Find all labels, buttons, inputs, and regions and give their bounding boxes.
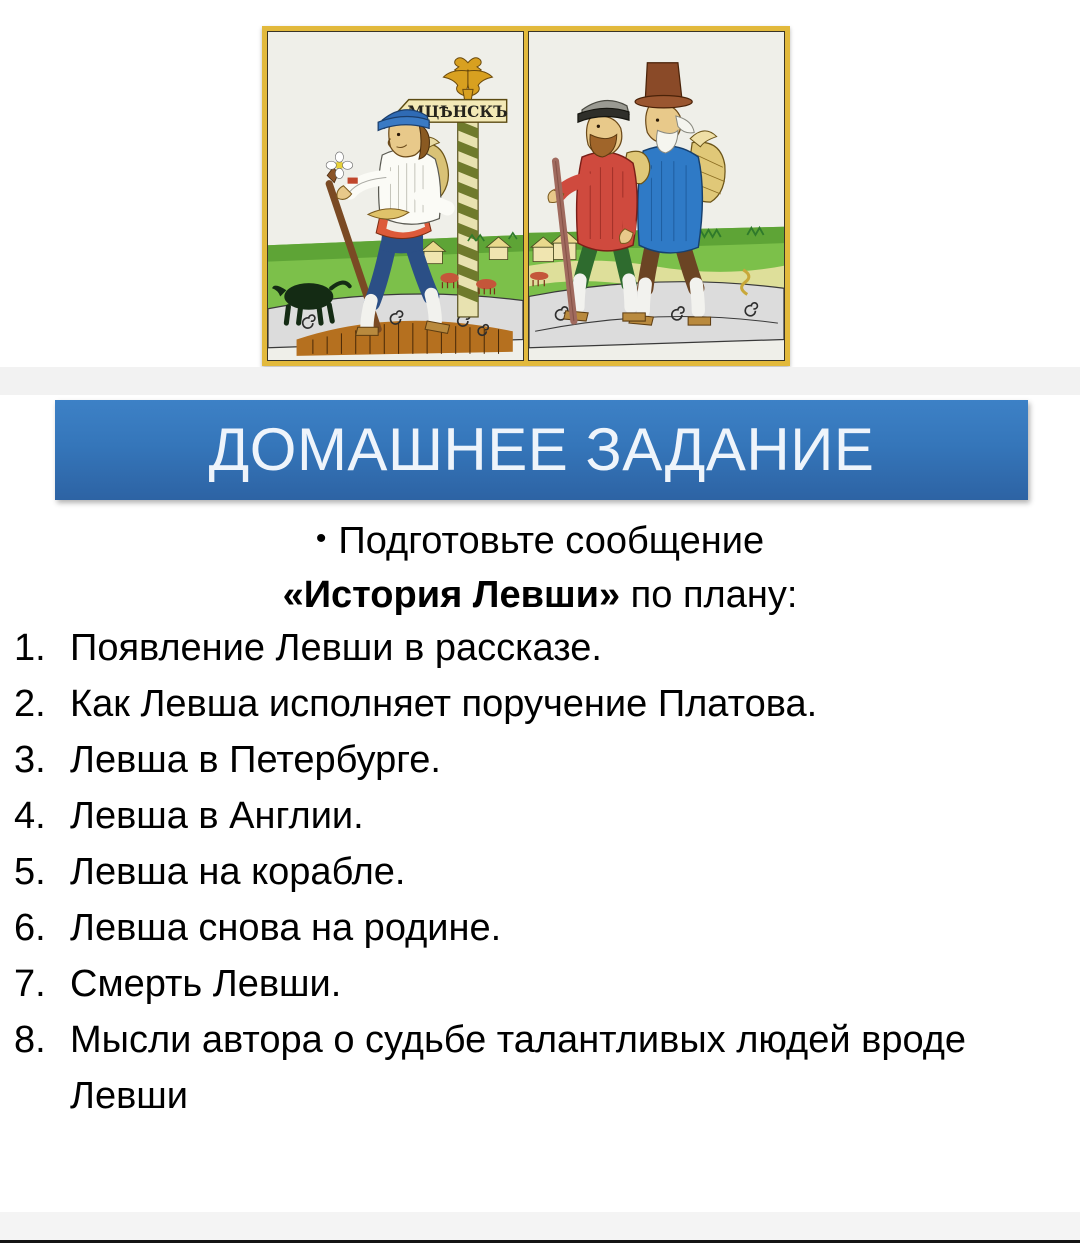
open-book: МЦѢНСКЪ	[262, 26, 790, 366]
lubok-scene-left: МЦѢНСКЪ	[268, 32, 523, 360]
divider-strip-bottom	[0, 1212, 1080, 1240]
intro-line-1: Подготовьте сообщение	[338, 520, 764, 562]
intro-second-line: «История Левши» по плану:	[0, 568, 1080, 622]
list-item: 6. Левша снова на родине.	[0, 900, 1080, 956]
story-title: «История Левши»	[283, 574, 621, 616]
page-title: ДОМАШНЕЕ ЗАДАНИЕ	[209, 420, 875, 480]
list-item-number: 2.	[14, 676, 70, 732]
list-item-number: 7.	[14, 956, 70, 1012]
list-item-number: 3.	[14, 732, 70, 788]
list-item-number: 1.	[14, 620, 70, 676]
list-item-number: 8.	[14, 1012, 70, 1068]
intro-line-2-tail: по плану:	[620, 574, 797, 616]
divider-strip-top	[0, 367, 1080, 395]
list-item-text: Левша на корабле.	[70, 844, 1080, 900]
list-item-text: Смерть Левши.	[70, 956, 1080, 1012]
list-item: 7. Смерть Левши.	[0, 956, 1080, 1012]
list-item-text: Левша снова на родине.	[70, 900, 1080, 956]
lubok-book-illustration: МЦѢНСКЪ	[262, 26, 790, 366]
list-item: 3. Левша в Петербурге.	[0, 732, 1080, 788]
homework-title-banner: ДОМАШНЕЕ ЗАДАНИЕ	[55, 400, 1028, 500]
book-page-left: МЦѢНСКЪ	[267, 31, 524, 361]
list-item: 5. Левша на корабле.	[0, 844, 1080, 900]
list-item: 2. Как Левша исполняет поручение Платова…	[0, 676, 1080, 732]
list-item: 1. Появление Левши в рассказе.	[0, 620, 1080, 676]
list-item-text: Появление Левши в рассказе.	[70, 620, 1080, 676]
list-item-text: Левша в Англии.	[70, 788, 1080, 844]
list-item-number: 6.	[14, 900, 70, 956]
list-item-text: Как Левша исполняет поручение Платова.	[70, 676, 1080, 732]
list-item-number: 4.	[14, 788, 70, 844]
list-item-number: 5.	[14, 844, 70, 900]
list-item: 8. Мысли автора о судьбе талантливых люд…	[0, 1012, 1080, 1124]
lubok-scene-right	[529, 32, 784, 360]
book-page-right	[528, 31, 785, 361]
intro-bullet-line: •Подготовьте сообщение	[0, 512, 1080, 568]
list-item-text: Мысли автора о судьбе талантливых людей …	[70, 1012, 1080, 1124]
assignment-plan-list: 1. Появление Левши в рассказе. 2. Как Ле…	[0, 620, 1080, 1124]
list-item: 4. Левша в Англии.	[0, 788, 1080, 844]
bullet-icon: •	[316, 522, 327, 555]
list-item-text: Левша в Петербурге.	[70, 732, 1080, 788]
assignment-intro: •Подготовьте сообщение «История Левши» п…	[0, 512, 1080, 622]
